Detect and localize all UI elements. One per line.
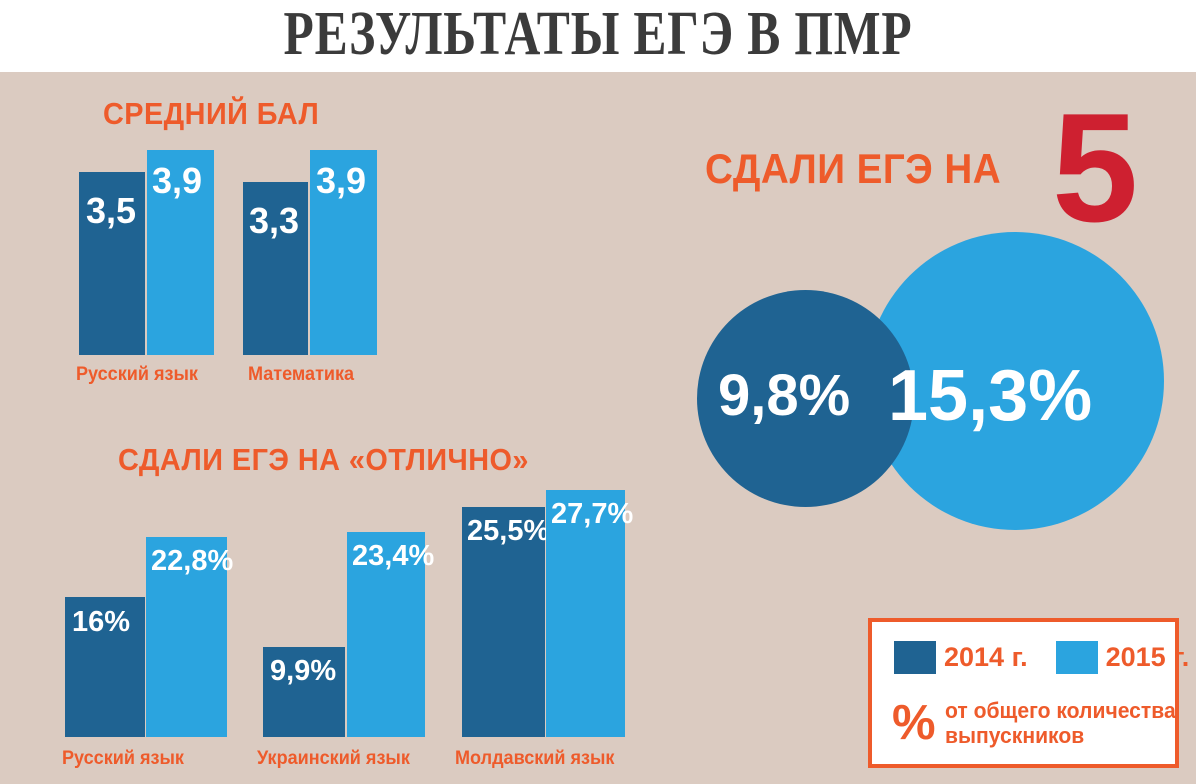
bar-value-avg-russian-2014: 3,5 bbox=[86, 190, 136, 232]
chart-average-score-title: СРЕДНИЙ БАЛ bbox=[103, 96, 319, 132]
passed-on-five-title: СДАЛИ ЕГЭ НА bbox=[705, 145, 1001, 193]
category-label-avg-math: Математика bbox=[248, 364, 354, 386]
category-label-avg-russian: Русский язык bbox=[76, 364, 198, 386]
legend-label-2015: 2015 г. bbox=[1106, 642, 1190, 673]
bar-value-avg-math-2015: 3,9 bbox=[316, 160, 366, 202]
percent-symbol: % bbox=[892, 699, 936, 748]
infographic-poster: РЕЗУЛЬТАТЫ ЕГЭ В ПМР СРЕДНИЙ БАЛ 3,5 3,9… bbox=[0, 0, 1196, 784]
category-label-exc-russian: Русский язык bbox=[62, 748, 184, 770]
circle-value-2015: 15,3% bbox=[888, 360, 1092, 432]
legend-box: 2014 г. 2015 г. % от общего количества в… bbox=[868, 618, 1179, 768]
bar-value-exc-ukrainian-2015: 23,4% bbox=[352, 540, 434, 573]
legend-label-2014: 2014 г. bbox=[944, 642, 1028, 673]
header-band: РЕЗУЛЬТАТЫ ЕГЭ В ПМР bbox=[0, 0, 1196, 72]
legend-note-line2: выпускников bbox=[945, 723, 1084, 748]
bar-value-exc-russian-2015: 22,8% bbox=[151, 545, 233, 578]
bar-value-exc-ukrainian-2014: 9,9% bbox=[270, 655, 336, 688]
category-label-exc-moldovan: Молдавский язык bbox=[455, 748, 614, 770]
page-title: РЕЗУЛЬТАТЫ ЕГЭ В ПМР bbox=[120, 0, 1077, 70]
grade-five-numeral: 5 bbox=[1052, 90, 1138, 245]
legend-year-row: 2014 г. 2015 г. bbox=[894, 641, 1189, 674]
bar-value-exc-moldovan-2015: 27,7% bbox=[551, 498, 633, 531]
bar-value-avg-math-2014: 3,3 bbox=[249, 200, 299, 242]
legend-note: % от общего количества выпускников bbox=[892, 698, 1185, 748]
bar-value-avg-russian-2015: 3,9 bbox=[152, 160, 202, 202]
legend-note-text: от общего количества выпускников bbox=[945, 698, 1176, 748]
poster-body: СРЕДНИЙ БАЛ 3,5 3,9 Русский язык 3,3 3,9… bbox=[0, 72, 1196, 784]
legend-swatch-2015 bbox=[1056, 641, 1098, 674]
category-label-exc-ukrainian: Украинский язык bbox=[257, 748, 410, 770]
circle-value-2014: 9,8% bbox=[718, 367, 850, 425]
bar-value-exc-russian-2014: 16% bbox=[72, 606, 130, 639]
legend-swatch-2014 bbox=[894, 641, 936, 674]
chart-excellent-title: СДАЛИ ЕГЭ НА «ОТЛИЧНО» bbox=[118, 442, 529, 478]
bar-value-exc-moldovan-2014: 25,5% bbox=[467, 515, 549, 548]
legend-note-line1: от общего количества bbox=[945, 698, 1176, 723]
